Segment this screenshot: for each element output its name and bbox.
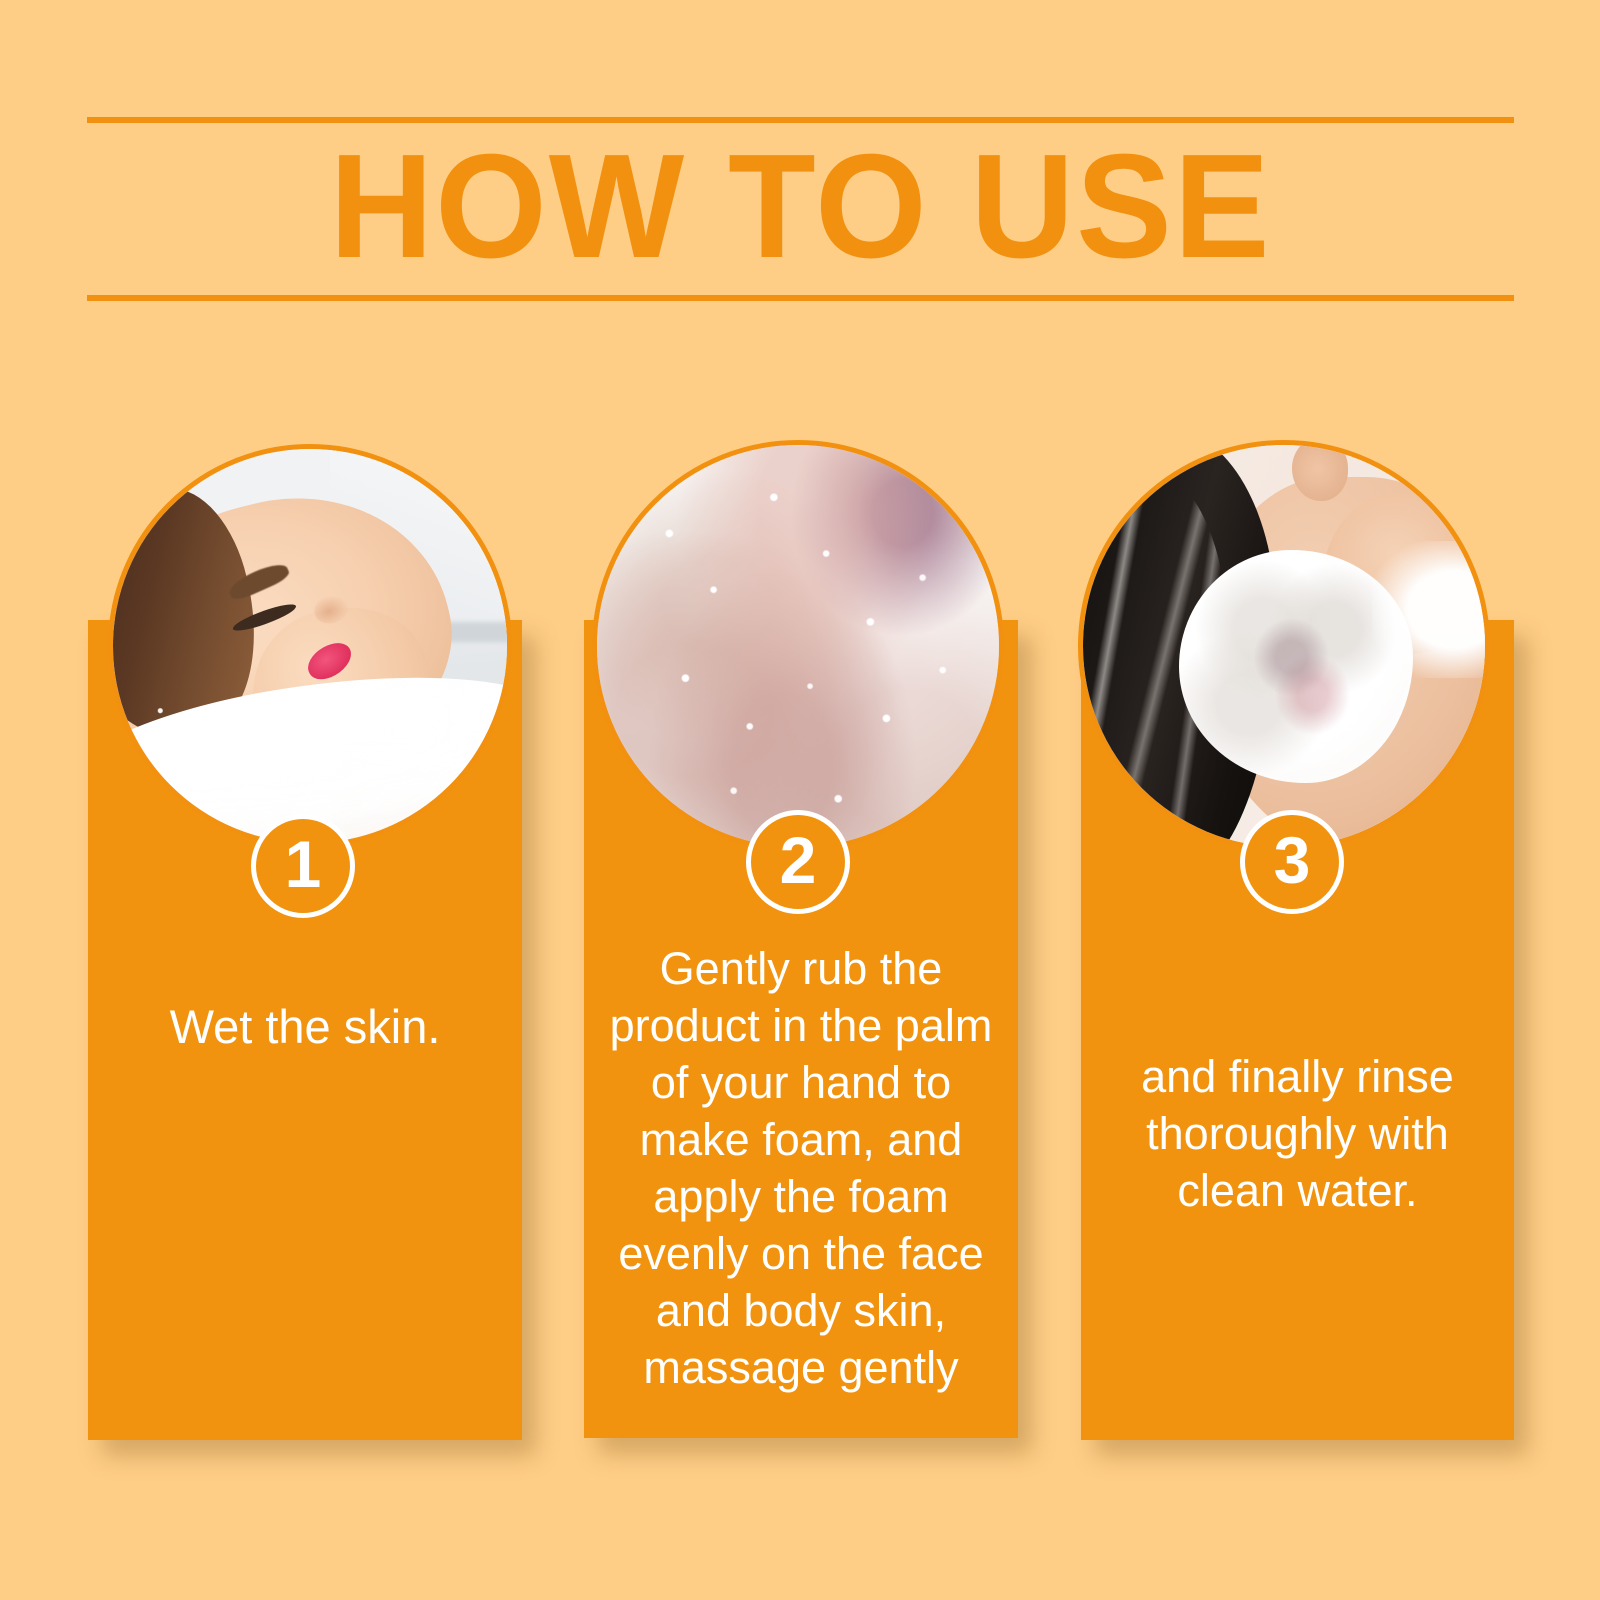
step-1-number-badge: 1 <box>251 814 355 918</box>
step-1-image <box>108 444 512 848</box>
step-2-text: Gently rub the product in the palm of yo… <box>584 940 1018 1396</box>
how-to-use-poster: HOW TO USE Wet the skin. 1 <box>0 0 1600 1600</box>
step-1-text: Wet the skin. <box>88 998 522 1055</box>
steps-container: Wet the skin. 1 Gently rub the product i… <box>0 0 1600 1600</box>
step-3-text: and finally rinse thoroughly with clean … <box>1081 1048 1514 1219</box>
step-2-number-badge: 2 <box>746 810 850 914</box>
step-2-image <box>592 440 1004 852</box>
step-3-image <box>1078 440 1490 852</box>
step-3-number-badge: 3 <box>1240 810 1344 914</box>
